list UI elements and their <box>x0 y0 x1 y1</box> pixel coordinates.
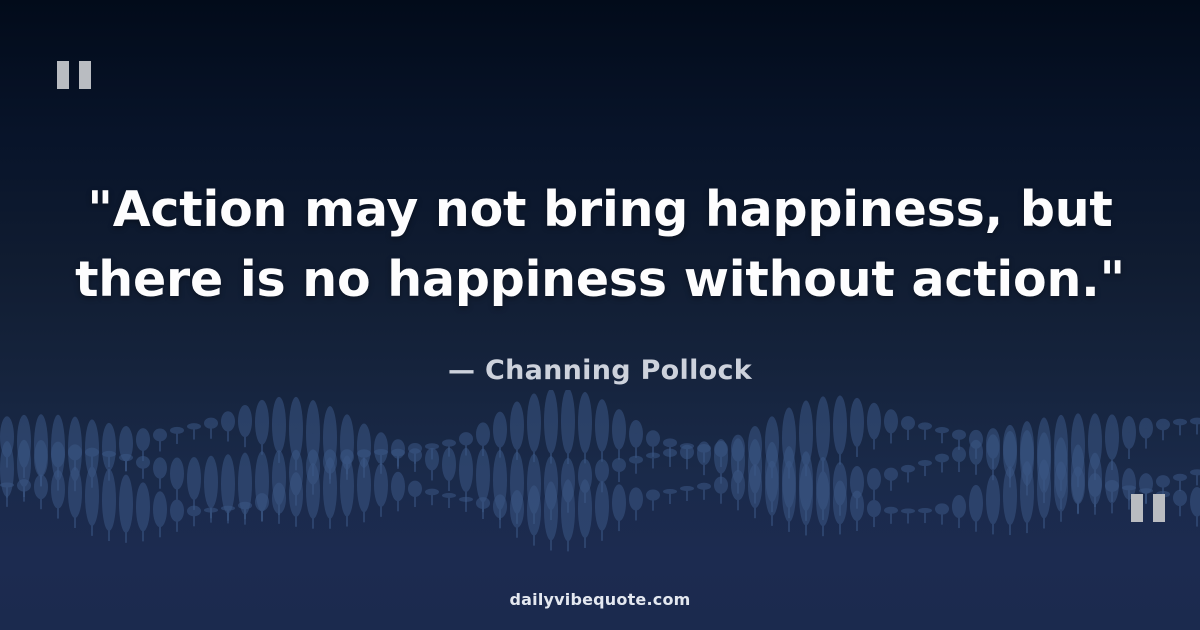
waveform-stem <box>499 430 501 458</box>
waveform-bar <box>527 454 541 514</box>
waveform-bar <box>408 443 422 454</box>
quotation-mark-icon <box>57 61 91 89</box>
waveform-bar <box>442 493 456 498</box>
waveform-stem <box>227 421 229 441</box>
waveform-bar <box>272 397 286 453</box>
waveform-bar <box>901 465 915 473</box>
waveform-svg <box>0 390 1200 575</box>
waveform-stem <box>805 433 807 476</box>
waveform-bar <box>68 417 82 482</box>
waveform-stem <box>1009 447 1011 479</box>
waveform-stem <box>618 429 620 459</box>
waveform-bar <box>459 497 473 502</box>
waveform-bar <box>1003 466 1017 525</box>
waveform-stem <box>720 456 722 483</box>
waveform-stem <box>754 446 756 476</box>
waveform-stem <box>1043 449 1045 490</box>
waveform-bar <box>374 432 388 464</box>
waveform-stem <box>23 485 25 501</box>
waveform-bar <box>476 497 490 509</box>
waveform-stem <box>1094 485 1096 507</box>
waveform-bar <box>68 444 82 460</box>
waveform-bar <box>969 485 983 522</box>
waveform-stem <box>278 425 280 463</box>
waveform-bar <box>1122 416 1136 449</box>
waveform-bar <box>544 482 558 541</box>
waveform-stem <box>74 493 76 528</box>
waveform-bar <box>34 440 48 477</box>
waveform-bar <box>731 438 745 483</box>
waveform-bar <box>578 479 592 538</box>
waveform-stem <box>244 421 246 447</box>
waveform-stem <box>788 477 790 518</box>
waveform-bar <box>1054 415 1068 481</box>
waveform-stem <box>635 434 637 458</box>
waveform-bar <box>969 440 983 465</box>
waveform-stem <box>1060 468 1062 509</box>
waveform-stem <box>822 429 824 471</box>
waveform-bar <box>153 457 167 478</box>
waveform-bar <box>221 411 235 431</box>
waveform-stem <box>40 445 42 486</box>
waveform-bar <box>255 493 269 511</box>
waveform-stem <box>907 469 909 483</box>
waveform-bar <box>799 464 813 525</box>
waveform-bar <box>850 398 864 447</box>
waveform-bar <box>510 490 524 528</box>
waveform-stem <box>856 422 858 457</box>
waveform-stem <box>295 473 297 506</box>
waveform-stem <box>1145 428 1147 448</box>
waveform-bar <box>1037 459 1051 518</box>
waveform-bar <box>17 479 31 491</box>
waveform-bar <box>51 415 65 481</box>
waveform-stem <box>1179 477 1181 491</box>
waveform-stem <box>431 492 433 505</box>
waveform-bar <box>323 449 337 473</box>
waveform-stem <box>261 422 263 454</box>
waveform-stem <box>1094 479 1096 515</box>
waveform-stem <box>278 478 280 515</box>
waveform-bar <box>1037 418 1051 481</box>
waveform-stem <box>278 498 280 524</box>
waveform-stem <box>193 426 195 439</box>
waveform-bar <box>816 457 830 510</box>
waveform-stem <box>397 453 399 467</box>
waveform-bar <box>731 470 745 500</box>
waveform-bar <box>408 448 422 462</box>
waveform-stem <box>414 455 416 472</box>
waveform-bar <box>425 489 439 496</box>
waveform-bar <box>476 449 490 502</box>
waveform-bar <box>51 442 65 468</box>
waveform-stem <box>550 483 552 520</box>
waveform-stem <box>516 426 518 460</box>
waveform-stem <box>992 452 994 480</box>
waveform-stem <box>57 454 59 477</box>
waveform-stem <box>635 460 637 474</box>
waveform-bar <box>85 420 99 478</box>
waveform-bar <box>1122 485 1136 490</box>
waveform-bar <box>1173 419 1187 426</box>
waveform-bar <box>952 447 966 463</box>
waveform-stem <box>176 474 178 500</box>
waveform-stem <box>550 511 552 551</box>
waveform-bar <box>544 456 558 510</box>
waveform-bar <box>357 449 371 458</box>
waveform-bar <box>1156 475 1170 487</box>
waveform-stem <box>346 486 348 527</box>
waveform-stem <box>448 443 450 457</box>
waveform-bar <box>782 408 796 469</box>
waveform-bar <box>595 399 609 451</box>
waveform-stem <box>992 500 994 535</box>
waveform-stem <box>873 479 875 500</box>
waveform-stem <box>397 487 399 512</box>
waveform-bar <box>952 430 966 440</box>
waveform-bar <box>612 409 626 450</box>
waveform-stem <box>754 486 756 518</box>
waveform-bar <box>578 392 592 453</box>
waveform-stem <box>924 426 926 440</box>
waveform-bar <box>221 454 235 513</box>
waveform-stem <box>601 471 603 493</box>
waveform-stem <box>499 506 501 528</box>
waveform-bar <box>306 400 320 466</box>
waveform-bar <box>1054 437 1068 499</box>
waveform-stem <box>1009 496 1011 535</box>
waveform-bar <box>952 495 966 518</box>
waveform-stem <box>1094 442 1096 480</box>
waveform-stem <box>380 485 382 517</box>
waveform-bar <box>238 502 252 510</box>
waveform-bar <box>272 450 286 505</box>
waveform-bar <box>646 430 660 447</box>
waveform-stem <box>975 439 977 458</box>
waveform-stem <box>6 485 8 498</box>
waveform-stem <box>584 423 586 464</box>
waveform-stem <box>975 503 977 531</box>
waveform-bar <box>765 442 779 502</box>
waveform-bar <box>629 456 643 464</box>
waveform-stem <box>788 438 790 478</box>
waveform-stem <box>210 423 212 439</box>
waveform-stem <box>346 442 348 480</box>
waveform-bar <box>306 449 320 484</box>
waveform-stem <box>703 448 705 462</box>
waveform-stem <box>210 482 212 518</box>
waveform-bar <box>1139 488 1153 493</box>
waveform-bar <box>765 461 779 516</box>
waveform-bar <box>493 450 507 510</box>
waveform-stem <box>958 454 960 472</box>
waveform-bar <box>136 428 150 451</box>
waveform-bar <box>629 420 643 448</box>
waveform-stem <box>788 491 790 532</box>
waveform-stem <box>635 499 637 521</box>
waveform-stem <box>1043 463 1045 503</box>
waveform-bar <box>306 463 320 519</box>
waveform-bar <box>493 494 507 518</box>
waveform-bar <box>425 443 439 449</box>
waveform-bar <box>170 500 184 522</box>
waveform-stem <box>142 440 144 461</box>
waveform-stem <box>1162 425 1164 441</box>
waveform-stem <box>907 511 909 524</box>
waveform-stem <box>1111 437 1113 470</box>
waveform-bar <box>204 456 218 509</box>
waveform-stem <box>703 453 705 475</box>
waveform-stem <box>958 435 960 450</box>
waveform-bar <box>357 424 371 468</box>
waveform-stem <box>941 509 943 525</box>
wave-band-3 <box>0 456 1200 552</box>
waveform-bar <box>357 458 371 512</box>
waveform-bar <box>323 457 337 518</box>
waveform-stem <box>57 448 59 491</box>
waveform-bar <box>1071 444 1085 503</box>
waveform-stem <box>482 434 484 456</box>
waveform-bar <box>714 441 728 457</box>
waveform-bar <box>561 458 575 503</box>
waveform-stem <box>91 496 93 536</box>
waveform-stem <box>941 458 943 472</box>
waveform-bar <box>595 481 609 531</box>
waveform-bar <box>119 454 133 461</box>
waveform-stem <box>1196 502 1198 527</box>
waveform-stem <box>584 476 586 503</box>
waveform-stem <box>1196 472 1198 485</box>
waveform-bar <box>561 390 575 454</box>
waveform-stem <box>1009 454 1011 487</box>
waveform-bar <box>170 427 184 434</box>
waveform-stem <box>1077 474 1079 513</box>
waveform-bar <box>1173 474 1187 481</box>
waveform-stem <box>74 449 76 491</box>
waveform-stem <box>482 503 484 519</box>
waveform-bar <box>255 451 269 511</box>
waveform-stem <box>754 466 756 503</box>
waveform-bar <box>391 472 405 502</box>
waveform-stem <box>312 491 314 529</box>
waveform-bar <box>187 506 201 517</box>
waveform-stem <box>1128 484 1130 510</box>
waveform-stem <box>431 446 433 459</box>
waveform-stem <box>1111 482 1113 513</box>
waveform-bar <box>459 432 473 445</box>
waveform-bar <box>102 451 116 457</box>
waveform-stem <box>686 446 688 459</box>
waveform-stem <box>40 458 42 486</box>
audio-waveform-icon <box>0 390 1200 575</box>
waveform-bar <box>986 428 1000 459</box>
waveform-stem <box>941 430 943 443</box>
waveform-bar <box>833 396 847 455</box>
waveform-bar <box>663 449 677 457</box>
waveform-bar <box>850 491 864 521</box>
waveform-stem <box>737 461 739 494</box>
waveform-bar <box>612 484 626 521</box>
waveform-stem <box>210 510 212 523</box>
waveform-bar <box>340 414 354 469</box>
waveform-bar <box>935 503 949 514</box>
waveform-stem <box>516 509 518 538</box>
waveform-stem <box>1060 487 1062 522</box>
quote-content: "Action may not bring happiness, but the… <box>0 175 1200 386</box>
waveform-bar <box>1088 453 1102 505</box>
waveform-bar <box>187 423 201 429</box>
quote-bar-right <box>1153 494 1165 522</box>
waveform-bar <box>391 449 405 457</box>
waveform-stem <box>431 459 433 480</box>
waveform-bar <box>969 430 983 449</box>
waveform-stem <box>329 461 331 483</box>
waveform-bar <box>1173 490 1187 506</box>
waveform-bar <box>748 464 762 508</box>
waveform-stem <box>363 485 365 522</box>
waveform-bar <box>561 479 575 541</box>
waveform-bar <box>289 450 303 496</box>
waveform-stem <box>584 509 586 548</box>
waveform-stem <box>159 509 161 537</box>
waveform-bar <box>663 438 677 447</box>
waveform-stem <box>1111 486 1113 502</box>
waveform-bar <box>425 448 439 471</box>
waveform-bar <box>476 422 490 446</box>
waveform-stem <box>295 494 297 526</box>
waveform-stem <box>363 446 365 478</box>
waveform-stem <box>91 452 93 467</box>
waveform-stem <box>261 502 263 521</box>
wave-band-2 <box>0 430 1200 524</box>
waveform-stem <box>125 504 127 543</box>
waveform-bar <box>663 489 677 494</box>
waveform-stem <box>686 488 688 501</box>
waveform-stem <box>6 469 8 507</box>
waveform-stem <box>567 480 569 512</box>
waveform-stem <box>669 453 671 467</box>
waveform-stem <box>652 455 654 468</box>
waveform-stem <box>295 429 297 471</box>
waveform-bar <box>136 456 150 469</box>
waveform-stem <box>771 488 773 526</box>
waveform-stem <box>1060 448 1062 491</box>
waveform-stem <box>227 484 229 524</box>
waveform-stem <box>142 507 144 541</box>
waveform-stem <box>482 475 484 512</box>
waveform-stem <box>856 506 858 531</box>
waveform-bar <box>629 487 643 510</box>
waveform-stem <box>924 511 926 524</box>
waveform-bar <box>833 462 847 506</box>
waveform-stem <box>618 503 620 531</box>
waveform-bar <box>153 491 167 527</box>
waveform-bar <box>1190 418 1200 425</box>
quote-bar-left <box>57 61 69 89</box>
waveform-stem <box>125 458 127 472</box>
waveform-bar <box>918 508 932 513</box>
waveform-bar <box>1139 418 1153 439</box>
waveform-stem <box>244 484 246 525</box>
waveform-stem <box>499 480 501 520</box>
waveform-stem <box>907 423 909 440</box>
waveform-bar <box>595 459 609 482</box>
waveform-bar <box>493 412 507 448</box>
waveform-bar <box>1020 461 1034 523</box>
waveform-stem <box>1196 421 1198 434</box>
waveform-stem <box>414 489 416 507</box>
waveform-stem <box>312 433 314 476</box>
waveform-bar <box>527 393 541 452</box>
waveform-bar <box>17 440 31 487</box>
waveform-stem <box>176 511 178 532</box>
waveform-stem <box>261 482 263 522</box>
waveform-bar <box>544 390 558 454</box>
waveform-stem <box>669 443 671 457</box>
waveform-stem <box>669 492 671 505</box>
waveform-stem <box>142 462 144 478</box>
quote-bar-right <box>79 61 91 89</box>
waveform-stem <box>1026 458 1028 496</box>
waveform-stem <box>91 449 93 488</box>
waveform-bar <box>918 422 932 429</box>
waveform-bar <box>884 507 898 514</box>
waveform-stem <box>1026 449 1028 486</box>
waveform-bar <box>867 500 881 517</box>
waveform-bar <box>1003 425 1017 468</box>
waveform-bar <box>1139 473 1153 494</box>
waveform-bar <box>714 439 728 474</box>
waveform-stem <box>839 484 841 516</box>
waveform-stem <box>652 495 654 511</box>
waveform-stem <box>771 442 773 478</box>
waveform-stem <box>873 421 875 449</box>
waveform-bar <box>527 485 541 535</box>
waveform-stem <box>839 425 841 465</box>
waveform-stem <box>108 500 110 541</box>
waveform-bar <box>17 415 31 468</box>
waveform-stem <box>448 464 450 491</box>
waveform-bar <box>867 403 881 440</box>
waveform-bar <box>459 448 473 492</box>
waveform-bar <box>238 405 252 437</box>
waveform-bar <box>646 452 660 458</box>
waveform-stem <box>193 478 195 509</box>
waveform-bar <box>1105 461 1119 503</box>
waveform-bar <box>102 423 116 471</box>
waveform-stem <box>176 430 178 444</box>
waveform-stem <box>601 506 603 541</box>
waveform-bar <box>680 443 694 449</box>
waveform-bar <box>1088 473 1102 497</box>
waveform-stem <box>227 508 229 521</box>
waveform-stem <box>533 484 535 524</box>
waveform-bar <box>731 435 745 462</box>
waveform-stem <box>601 426 603 462</box>
quote-attribution: — Channing Pollock <box>70 355 1130 386</box>
waveform-bar <box>714 477 728 494</box>
waveform-bar <box>935 454 949 463</box>
waveform-stem <box>618 465 620 482</box>
waveform-stem <box>1077 445 1079 487</box>
waveform-bar <box>204 508 218 513</box>
waveform-bar <box>1105 480 1119 492</box>
waveform-bar <box>748 439 762 493</box>
waveform-bar <box>34 414 48 476</box>
waveform-bar <box>833 480 847 524</box>
waveform-stem <box>465 499 467 512</box>
waveform-bar <box>680 486 694 491</box>
